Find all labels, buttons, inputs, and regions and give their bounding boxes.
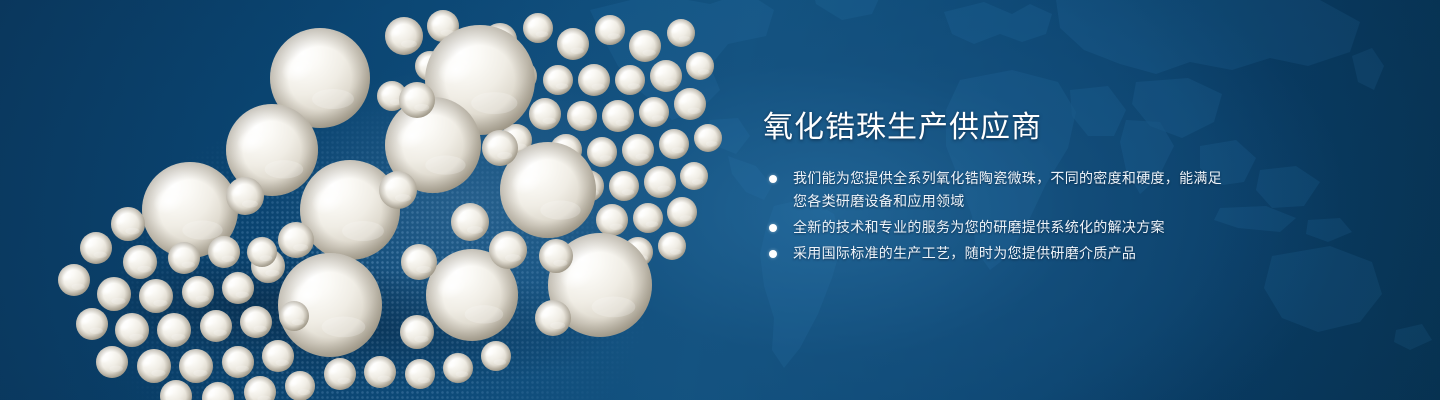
banner-headline: 氧化锆珠生产供应商 — [763, 110, 1042, 145]
bullet-dot-icon — [769, 224, 777, 232]
zirconia-beads-image — [0, 0, 740, 400]
bullet-text: 采用国际标准的生产工艺，随时为您提供研磨介质产品 — [793, 242, 1225, 265]
list-item: 我们能为您提供全系列氧化锆陶瓷微珠，不同的密度和硬度，能满足您各类研磨设备和应用… — [765, 167, 1225, 213]
bullet-dot-icon — [769, 250, 777, 258]
bullet-dot-icon — [769, 175, 777, 183]
banner-bullet-list: 我们能为您提供全系列氧化锆陶瓷微珠，不同的密度和硬度，能满足您各类研磨设备和应用… — [765, 167, 1225, 268]
list-item: 采用国际标准的生产工艺，随时为您提供研磨介质产品 — [765, 242, 1225, 265]
hero-banner: 氧化锆珠生产供应商 我们能为您提供全系列氧化锆陶瓷微珠，不同的密度和硬度，能满足… — [0, 0, 1440, 400]
list-item: 全新的技术和专业的服务为您的研磨提供系统化的解决方案 — [765, 216, 1225, 239]
bullet-text: 我们能为您提供全系列氧化锆陶瓷微珠，不同的密度和硬度，能满足您各类研磨设备和应用… — [793, 167, 1225, 213]
bullet-text: 全新的技术和专业的服务为您的研磨提供系统化的解决方案 — [793, 216, 1225, 239]
banner-text-column: 氧化锆珠生产供应商 我们能为您提供全系列氧化锆陶瓷微珠，不同的密度和硬度，能满足… — [763, 0, 1403, 400]
